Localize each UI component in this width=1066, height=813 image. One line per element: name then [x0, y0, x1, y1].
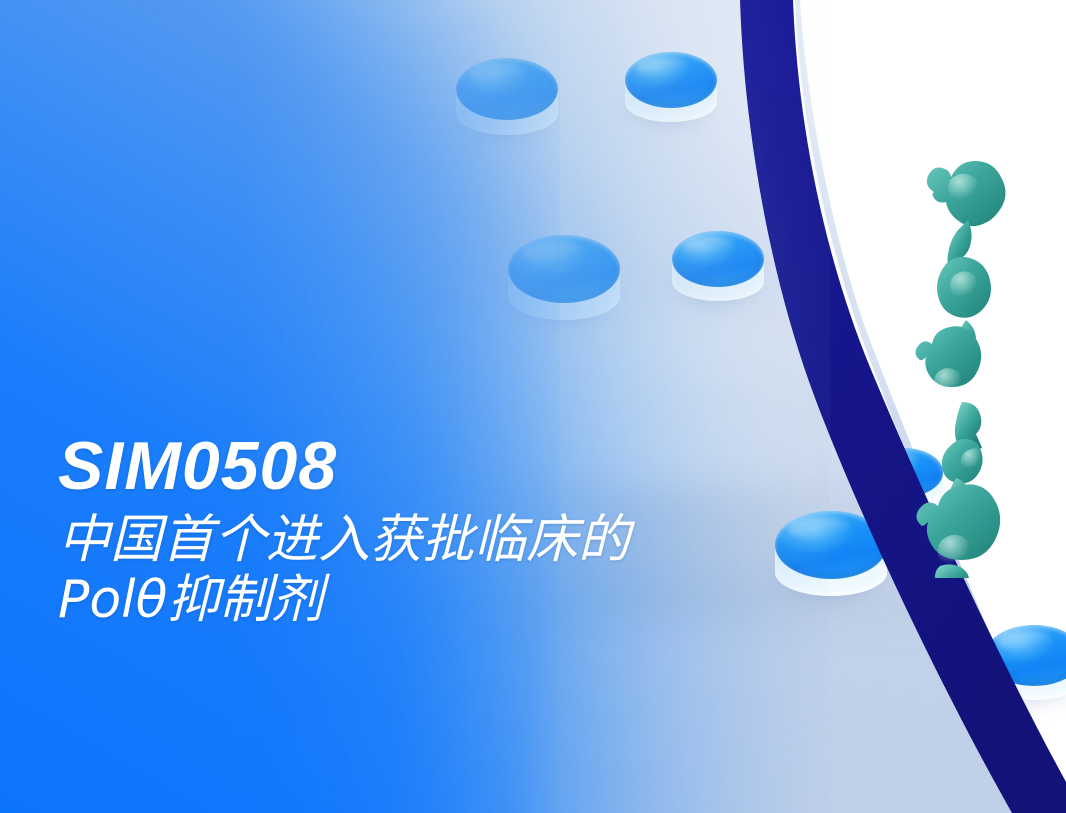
tablet-gloss-highlight	[997, 630, 1052, 651]
blue-tablet	[456, 58, 558, 142]
blue-tablet	[672, 231, 764, 307]
headline-block: SIM0508 中国首个进入获批临床的 Polθ抑制剂	[58, 432, 878, 630]
blue-tablet	[508, 235, 620, 327]
tablet-gloss-highlight	[636, 57, 688, 77]
blue-tablet	[625, 52, 717, 128]
tagline-line-2: Polθ抑制剂	[58, 571, 878, 630]
tagline-line-1: 中国首个进入获批临床的	[58, 511, 878, 570]
product-name-heading: SIM0508	[58, 432, 878, 501]
tagline: 中国首个进入获批临床的 Polθ抑制剂	[58, 511, 878, 630]
tablet-gloss-highlight	[683, 236, 735, 256]
tablet-gloss-highlight	[468, 63, 525, 85]
tablet-gloss-highlight	[874, 452, 918, 469]
product-key-visual-banner: SIM0508 中国首个进入获批临床的 Polθ抑制剂	[0, 0, 1066, 813]
blue-tablet	[985, 625, 1066, 707]
